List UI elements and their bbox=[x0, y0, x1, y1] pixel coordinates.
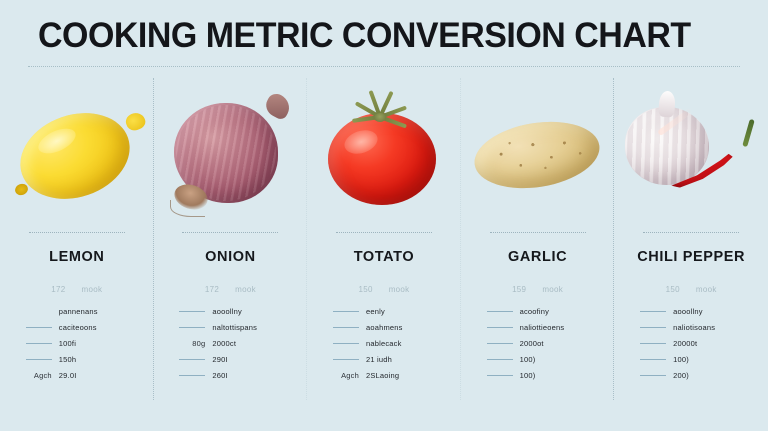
table-row: aooollny bbox=[171, 306, 289, 317]
table-row: acoofiny bbox=[479, 306, 597, 317]
row-value: pannenans bbox=[59, 307, 98, 316]
row-dash-icon bbox=[333, 327, 359, 328]
column-rule bbox=[336, 232, 432, 233]
meta-label: mook bbox=[389, 285, 410, 294]
conversion-rows-lemon: pannenans caciteoons 100fi 150h Agch 29.… bbox=[18, 306, 136, 381]
row-key bbox=[171, 327, 205, 328]
table-row: 100) bbox=[479, 370, 597, 381]
row-key: Agch bbox=[18, 371, 52, 380]
onion-stem-icon bbox=[263, 91, 295, 122]
lemon-body bbox=[8, 99, 141, 213]
table-row: 100) bbox=[632, 354, 750, 365]
table-row: aooollny bbox=[632, 306, 750, 317]
table-row: naliottieoens bbox=[479, 322, 597, 333]
tomato-core-icon bbox=[374, 113, 386, 122]
row-key bbox=[632, 311, 666, 312]
column-rule bbox=[643, 232, 739, 233]
row-value: 200) bbox=[673, 371, 689, 380]
garlic-chili-illustration bbox=[621, 83, 761, 223]
row-key bbox=[479, 327, 513, 328]
row-key bbox=[632, 327, 666, 328]
row-dash-icon bbox=[26, 359, 52, 360]
column-rule bbox=[490, 232, 586, 233]
row-key bbox=[479, 311, 513, 312]
table-row: 20000t bbox=[632, 338, 750, 349]
column-totato: TOTATO 150 mook eenly aoahmens nablecack bbox=[307, 78, 461, 418]
row-value: 100) bbox=[520, 355, 536, 364]
row-value: 100fi bbox=[59, 339, 76, 348]
row-dash-icon bbox=[640, 375, 666, 376]
table-row: nablecack bbox=[325, 338, 443, 349]
row-value: caciteoons bbox=[59, 323, 97, 332]
table-row: 150h bbox=[18, 354, 136, 365]
table-row: 290I bbox=[171, 354, 289, 365]
row-key bbox=[18, 359, 52, 360]
produce-image-potato bbox=[461, 78, 615, 228]
table-row: aoahmens bbox=[325, 322, 443, 333]
produce-columns: LEMON 172 mook pannenans caciteoons 100f… bbox=[0, 78, 768, 418]
row-dash-icon bbox=[333, 359, 359, 360]
column-header-lemon: LEMON bbox=[49, 249, 104, 265]
row-dash-icon bbox=[487, 375, 513, 376]
row-key bbox=[171, 311, 205, 312]
garlic-tip-icon bbox=[658, 90, 676, 117]
row-dash-icon bbox=[487, 327, 513, 328]
produce-image-onion bbox=[154, 78, 308, 228]
row-key bbox=[171, 359, 205, 360]
row-dash-icon bbox=[640, 359, 666, 360]
row-value: 2000ct bbox=[212, 339, 236, 348]
column-header-onion: ONION bbox=[205, 249, 256, 265]
conversion-rows-onion: aooollny naltottispans 80g 2000ct 290I 2… bbox=[171, 306, 289, 381]
row-dash-icon bbox=[179, 359, 205, 360]
row-key bbox=[18, 327, 52, 328]
column-meta-garlic: 159 mook bbox=[512, 285, 563, 294]
row-dash-icon bbox=[333, 311, 359, 312]
row-key bbox=[325, 359, 359, 360]
onion-root-hair-icon bbox=[170, 200, 205, 217]
row-value: 29.0I bbox=[59, 371, 77, 380]
row-value: 290I bbox=[212, 355, 227, 364]
row-value: eenly bbox=[366, 307, 385, 316]
chili-body bbox=[647, 143, 743, 189]
lemon-nub-icon bbox=[123, 110, 147, 133]
row-value: naliottieoens bbox=[520, 323, 565, 332]
table-row: Agch 29.0I bbox=[18, 370, 136, 381]
row-key bbox=[632, 359, 666, 360]
row-dash-icon bbox=[333, 343, 359, 344]
meta-number: 172 bbox=[51, 285, 65, 294]
lemon-illustration bbox=[7, 83, 147, 223]
row-key bbox=[325, 311, 359, 312]
row-value: aoahmens bbox=[366, 323, 403, 332]
row-value: 21 iudh bbox=[366, 355, 392, 364]
row-dash-icon bbox=[26, 343, 52, 344]
row-dash-icon bbox=[640, 327, 666, 328]
row-value: 150h bbox=[59, 355, 77, 364]
row-value: 2000ot bbox=[520, 339, 544, 348]
table-row: 200) bbox=[632, 370, 750, 381]
table-row: Agch 2SLaoing bbox=[325, 370, 443, 381]
row-value: naltottispans bbox=[212, 323, 257, 332]
produce-image-garlic-chili bbox=[614, 78, 768, 228]
table-row: 2000ot bbox=[479, 338, 597, 349]
row-value: acoofiny bbox=[520, 307, 550, 316]
column-header-garlic: GARLIC bbox=[508, 249, 567, 265]
title-divider bbox=[28, 66, 740, 67]
table-row: naltottispans bbox=[171, 322, 289, 333]
row-value: naliotisoans bbox=[673, 323, 715, 332]
produce-image-tomato bbox=[307, 78, 461, 228]
cooking-conversion-chart: COOKING METRIC CONVERSION CHART LEMON 17… bbox=[0, 0, 768, 431]
row-key bbox=[632, 375, 666, 376]
table-row: caciteoons bbox=[18, 322, 136, 333]
tomato-illustration bbox=[314, 83, 454, 223]
conversion-rows-totato: eenly aoahmens nablecack 21 iudh Agch 2S… bbox=[325, 306, 443, 381]
table-row: naliotisoans bbox=[632, 322, 750, 333]
column-chili-pepper: CHILI PEPPER 150 mook aooollny naliotiso… bbox=[614, 78, 768, 418]
meta-label: mook bbox=[82, 285, 103, 294]
row-value: 2SLaoing bbox=[366, 371, 399, 380]
row-dash-icon bbox=[179, 327, 205, 328]
table-row: 100fi bbox=[18, 338, 136, 349]
row-dash-icon bbox=[487, 359, 513, 360]
table-row: 260I bbox=[171, 370, 289, 381]
row-key bbox=[325, 343, 359, 344]
meta-number: 150 bbox=[358, 285, 372, 294]
meta-label: mook bbox=[696, 285, 717, 294]
row-value: 100) bbox=[520, 371, 536, 380]
onion-illustration bbox=[160, 83, 300, 223]
row-dash-icon bbox=[487, 311, 513, 312]
potato-eyes-texture bbox=[469, 114, 603, 197]
row-dash-icon bbox=[179, 375, 205, 376]
row-dash-icon bbox=[640, 343, 666, 344]
row-value: 20000t bbox=[673, 339, 697, 348]
chili-stem-icon bbox=[742, 119, 755, 147]
row-key bbox=[171, 375, 205, 376]
row-dash-icon bbox=[640, 311, 666, 312]
conversion-rows-garlic: acoofiny naliottieoens 2000ot 100) 100) bbox=[479, 306, 597, 381]
meta-number: 159 bbox=[512, 285, 526, 294]
table-row: pannenans bbox=[18, 306, 136, 317]
row-value: 260I bbox=[212, 371, 227, 380]
row-key: Agch bbox=[325, 371, 359, 380]
row-key bbox=[632, 343, 666, 344]
page-title: COOKING METRIC CONVERSION CHART bbox=[38, 16, 691, 56]
table-row: eenly bbox=[325, 306, 443, 317]
row-key: 80g bbox=[171, 339, 205, 348]
row-dash-icon bbox=[179, 311, 205, 312]
row-dash-icon bbox=[26, 327, 52, 328]
column-meta-totato: 150 mook bbox=[358, 285, 409, 294]
table-row: 21 iudh bbox=[325, 354, 443, 365]
column-rule bbox=[29, 232, 125, 233]
column-meta-lemon: 172 mook bbox=[51, 285, 102, 294]
column-rule bbox=[182, 232, 278, 233]
row-key bbox=[479, 375, 513, 376]
row-key bbox=[479, 343, 513, 344]
column-meta-chili-pepper: 150 mook bbox=[666, 285, 717, 294]
conversion-rows-chili-pepper: aooollny naliotisoans 20000t 100) 200) bbox=[632, 306, 750, 381]
row-value: 100) bbox=[673, 355, 689, 364]
row-value: aooollny bbox=[212, 307, 242, 316]
meta-number: 172 bbox=[205, 285, 219, 294]
column-lemon: LEMON 172 mook pannenans caciteoons 100f… bbox=[0, 78, 154, 418]
meta-label: mook bbox=[542, 285, 563, 294]
column-header-totato: TOTATO bbox=[354, 249, 415, 265]
table-row: 100) bbox=[479, 354, 597, 365]
row-value: nablecack bbox=[366, 339, 402, 348]
title-block: COOKING METRIC CONVERSION CHART bbox=[0, 0, 768, 72]
column-meta-onion: 172 mook bbox=[205, 285, 256, 294]
table-row: 80g 2000ct bbox=[171, 338, 289, 349]
row-key bbox=[479, 359, 513, 360]
row-key bbox=[18, 343, 52, 344]
row-value: aooollny bbox=[673, 307, 703, 316]
column-header-chili-pepper: CHILI PEPPER bbox=[637, 249, 745, 265]
column-garlic: GARLIC 159 mook acoofiny naliottieoens 2… bbox=[461, 78, 615, 418]
potato-illustration bbox=[468, 83, 608, 223]
produce-image-lemon bbox=[0, 78, 154, 228]
row-key bbox=[325, 327, 359, 328]
column-onion: ONION 172 mook aooollny naltottispans 80… bbox=[154, 78, 308, 418]
meta-label: mook bbox=[235, 285, 256, 294]
meta-number: 150 bbox=[666, 285, 680, 294]
row-dash-icon bbox=[487, 343, 513, 344]
